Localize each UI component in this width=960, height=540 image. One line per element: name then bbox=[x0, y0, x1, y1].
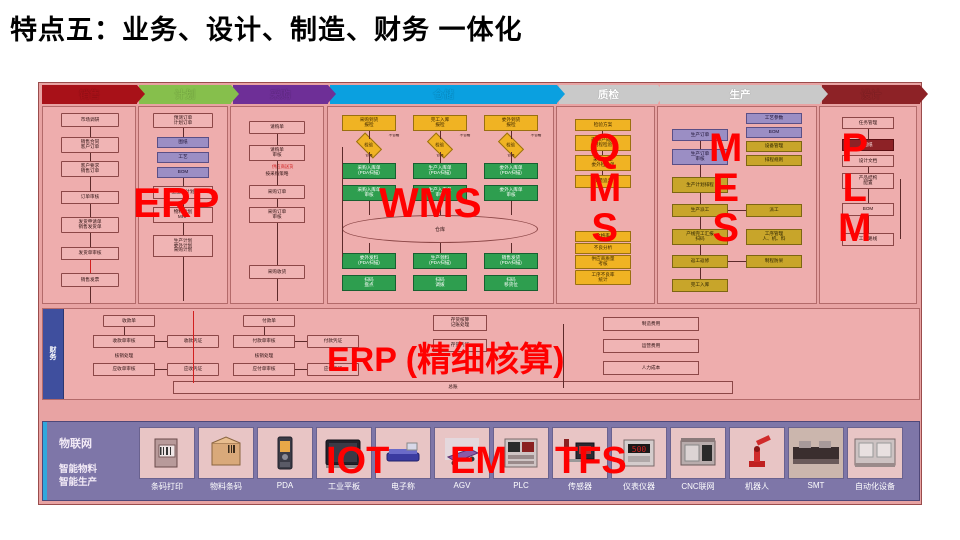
branch-label-no-2: 不合格 bbox=[528, 134, 544, 138]
connector bbox=[90, 287, 91, 303]
column-design: 任务管理 图纸 设计文档 产品结构 配置 BOM 工艺路线 bbox=[819, 106, 917, 304]
finance-side-label: 财 务 bbox=[43, 309, 64, 399]
integration-diagram: 销售 计划 采购 仓储 质检 生产 设计 市场调研 销售合同 客户订单 客户要求… bbox=[38, 82, 922, 505]
connector bbox=[124, 327, 125, 335]
connector bbox=[511, 152, 512, 163]
node-mes-rm-0[interactable]: 派工 bbox=[746, 204, 802, 217]
connector bbox=[90, 127, 91, 137]
node-fin-recv-0[interactable]: 收款单 bbox=[103, 315, 155, 327]
node-mes-2[interactable]: 生产计划排程 bbox=[672, 177, 728, 193]
node-wh-scan-2[interactable]: 扫码 移货位 bbox=[484, 275, 538, 291]
node-purchase-1[interactable]: 请购单 审核 bbox=[249, 145, 305, 161]
iot-item-caption: AGV bbox=[454, 481, 471, 490]
robot-arm-icon bbox=[729, 427, 785, 479]
svg-text:500: 500 bbox=[632, 445, 647, 454]
node-mes-rt-1[interactable]: BOM bbox=[746, 127, 802, 138]
node-plan-2[interactable]: 工艺 bbox=[157, 152, 209, 163]
column-planning: 预测订单 计划订单 图纸 工艺 BOM 主生产计划 物料计划 MRP 生产计划 … bbox=[138, 106, 228, 304]
node-fin-recv-3: 核销处理 bbox=[93, 352, 155, 361]
iot-item-caption: 电子称 bbox=[391, 481, 415, 492]
node-fin-cost-0[interactable]: 制造费用 bbox=[603, 317, 699, 331]
node-mes-0[interactable]: 生产订单 bbox=[672, 129, 728, 141]
iot-item[interactable]: 500 仪表仪器 bbox=[611, 427, 667, 499]
iot-item-caption: 机器人 bbox=[745, 481, 769, 492]
node-sales-2[interactable]: 客户要求 销售订单 bbox=[61, 161, 119, 177]
node-plan-4[interactable]: 主生产计划 bbox=[153, 186, 213, 199]
iot-item-caption: PDA bbox=[277, 481, 293, 490]
connector bbox=[440, 243, 441, 253]
iot-item[interactable]: PDA bbox=[257, 427, 313, 499]
node-qc-6[interactable]: 供应商质量 考核 bbox=[575, 255, 631, 269]
node-mes-6[interactable]: 完工入库 bbox=[672, 279, 728, 292]
connector bbox=[183, 257, 184, 301]
node-qc-0[interactable]: 检验方案 bbox=[575, 119, 631, 131]
connector bbox=[277, 161, 278, 185]
iot-item[interactable]: 工业平板 bbox=[316, 427, 372, 499]
node-wh-audit-2[interactable]: 委外入库单 审核 bbox=[484, 185, 538, 201]
node-qc-4[interactable]: 合格率 bbox=[575, 231, 631, 242]
node-fin-pay-0[interactable]: 付款单 bbox=[243, 315, 295, 327]
node-sales-6[interactable]: 销售发票 bbox=[61, 273, 119, 287]
connector bbox=[155, 341, 167, 342]
iot-item-caption: 条码打印 bbox=[151, 481, 183, 492]
iot-item[interactable]: CNC联网 bbox=[670, 427, 726, 499]
node-wh-scan-1[interactable]: 扫码 调拨 bbox=[413, 275, 467, 291]
node-plan-5[interactable]: 物料计划 MRP bbox=[153, 207, 213, 223]
node-plan-3[interactable]: BOM bbox=[157, 167, 209, 178]
iot-item-caption: CNC联网 bbox=[681, 481, 714, 492]
column-purchase: 请购单 请购单 审核 按采购策略 采购订单 采购订单 审核 采购收货 供应商送货 bbox=[230, 106, 324, 304]
iot-item-caption: 自动化设备 bbox=[855, 481, 895, 492]
node-fin-cost-1[interactable]: 运营费用 bbox=[603, 339, 699, 353]
column-sales: 市场调研 销售合同 客户订单 客户要求 销售订单 订单审核 发货申请单 销售发货… bbox=[42, 106, 136, 304]
connector bbox=[90, 233, 91, 247]
node-mes-rt-0[interactable]: 工艺参数 bbox=[746, 113, 802, 124]
ribbon-segment-planning[interactable]: 计划 bbox=[139, 85, 231, 104]
page-title: 特点五：业务、设计、制造、财务 一体化 bbox=[10, 8, 523, 47]
iot-item[interactable]: 物料条码 bbox=[198, 427, 254, 499]
handheld-pda-icon bbox=[257, 427, 313, 479]
branch-label-no-0: 不合格 bbox=[386, 134, 402, 138]
node-plm-4[interactable]: BOM bbox=[842, 203, 894, 216]
node-plm-5[interactable]: 工艺路线 bbox=[842, 233, 894, 246]
node-sales-1[interactable]: 销售合同 客户订单 bbox=[61, 137, 119, 153]
ribbon-segment-warehouse[interactable]: 仓储 bbox=[330, 85, 557, 104]
iot-item-caption: 物料条码 bbox=[210, 481, 242, 492]
ribbon-segment-production[interactable]: 生产 bbox=[660, 85, 820, 104]
connector bbox=[728, 261, 746, 262]
iot-item-caption: 工业平板 bbox=[328, 481, 360, 492]
node-sales-3[interactable]: 订单审核 bbox=[61, 191, 119, 204]
node-mes-1[interactable]: 生产订单 审核 bbox=[672, 149, 728, 165]
node-mes-rt-2[interactable]: 设备管理 bbox=[746, 141, 802, 152]
node-purchase-4[interactable]: 采购订单 审核 bbox=[249, 207, 305, 223]
node-wh-receipt-2[interactable]: 委外入库单 (PDA扫描) bbox=[484, 163, 538, 179]
iot-item[interactable]: AGV bbox=[434, 427, 490, 499]
node-fin-pay-1[interactable]: 付款单审核 bbox=[233, 335, 295, 348]
connector bbox=[602, 151, 603, 155]
connector bbox=[369, 131, 370, 139]
node-wh-issue-1[interactable]: 生产领料 (PDA扫描) bbox=[413, 253, 467, 269]
node-plm-1[interactable]: 图纸 bbox=[842, 139, 894, 151]
node-sales-0[interactable]: 市场调研 bbox=[61, 113, 119, 127]
connector bbox=[440, 201, 441, 215]
connector bbox=[511, 243, 512, 253]
node-fin-pay-4[interactable]: 应付单审核 bbox=[233, 363, 295, 376]
connector bbox=[183, 223, 184, 235]
connector bbox=[868, 129, 869, 139]
node-mes-rm-1[interactable]: 工序管理 人、机、料 bbox=[746, 229, 802, 245]
connector bbox=[295, 341, 307, 342]
connector bbox=[90, 204, 91, 217]
ribbon-segment-purchase[interactable]: 采购 bbox=[233, 85, 328, 104]
node-plm-0[interactable]: 任务管理 bbox=[842, 117, 894, 129]
node-qc-5[interactable]: 不良分析 bbox=[575, 243, 631, 254]
connector bbox=[440, 152, 441, 163]
connector bbox=[728, 210, 746, 211]
connector bbox=[369, 243, 370, 253]
node-plm-3[interactable]: 产品结构 配置 bbox=[842, 173, 894, 189]
connector bbox=[563, 324, 564, 388]
node-wh-inspect-0[interactable]: 采购到货 报检 bbox=[342, 115, 396, 131]
node-fin-ledger[interactable]: 总账 bbox=[173, 381, 733, 394]
connector bbox=[700, 141, 701, 149]
node-wh-receipt-1[interactable]: 生产入库单 (PDA扫描) bbox=[413, 163, 467, 179]
iot-subtitle: 智能物料 智能生产 bbox=[59, 464, 97, 490]
connector bbox=[155, 369, 167, 370]
connector bbox=[277, 134, 278, 145]
cnc-machine-icon bbox=[670, 427, 726, 479]
connector bbox=[700, 268, 701, 279]
iot-item[interactable]: 机器人 bbox=[729, 427, 785, 499]
column-warehouse: 采购到货 报检 完工入库 报检 委外到货 报检 检验 检验 检验 不合格 不合格… bbox=[327, 106, 554, 304]
purchase-side-note: 供应商送货 bbox=[271, 163, 323, 171]
node-wh-inspect-1[interactable]: 完工入库 报检 bbox=[413, 115, 467, 131]
node-sales-4[interactable]: 发货申请单 销售发货单 bbox=[61, 217, 119, 233]
iot-accent-bar bbox=[43, 422, 47, 500]
connector bbox=[868, 189, 869, 203]
connector bbox=[511, 131, 512, 139]
iot-item[interactable]: 条码打印 bbox=[139, 427, 195, 499]
iot-item[interactable]: 电子称 bbox=[375, 427, 431, 499]
node-mes-rm-2[interactable]: 制程防呆 bbox=[746, 255, 802, 268]
node-qc-7[interactable]: 工序不良率 统计 bbox=[575, 270, 631, 285]
node-plm-2[interactable]: 设计文档 bbox=[842, 155, 894, 167]
node-fin-cost-2[interactable]: 人力成本 bbox=[603, 361, 699, 375]
connector bbox=[295, 369, 307, 370]
carton-box-icon bbox=[198, 427, 254, 479]
node-wh-issue-2[interactable]: 销售发货 (PDA扫描) bbox=[484, 253, 538, 269]
connector bbox=[868, 216, 869, 233]
connector bbox=[700, 245, 701, 255]
connector bbox=[868, 167, 869, 173]
connector bbox=[277, 199, 278, 207]
node-fin-pay-3: 核销处理 bbox=[233, 352, 295, 361]
iot-item-caption: 传感器 bbox=[568, 481, 592, 492]
node-wh-receipt-0[interactable]: 采购入库单 (PDA扫描) bbox=[342, 163, 396, 179]
node-fin-pay-5[interactable]: 应付凭证 bbox=[307, 363, 359, 376]
branch-label-no-1: 不合格 bbox=[457, 134, 473, 138]
warehouse-store-cylinder[interactable]: 仓库 bbox=[342, 215, 538, 243]
node-wh-scan-0[interactable]: 扫码 盘点 bbox=[342, 275, 396, 291]
iot-title: 物联网 bbox=[59, 435, 92, 451]
connector bbox=[183, 199, 184, 207]
ribbon-segment-sales[interactable]: 销售 bbox=[42, 85, 137, 104]
connector bbox=[900, 179, 901, 239]
process-ribbon: 销售 计划 采购 仓储 质检 生产 设计 bbox=[42, 85, 920, 104]
connector bbox=[90, 260, 91, 273]
node-sales-5[interactable]: 发货单审核 bbox=[61, 247, 119, 260]
connector bbox=[264, 327, 265, 335]
connector bbox=[440, 131, 441, 139]
ribbon-segment-qc[interactable]: 质检 bbox=[559, 85, 658, 104]
node-mes-3[interactable]: 生产派工 bbox=[672, 204, 728, 217]
node-fin-inv-1[interactable]: 存货凭证 bbox=[433, 339, 487, 352]
column-production: 工艺参数 BOM 设备管理 排程规则 生产订单 生产订单 审核 生产计划排程 生… bbox=[657, 106, 817, 304]
node-fin-recv-1[interactable]: 收款单审核 bbox=[93, 335, 155, 348]
node-purchase-5[interactable]: 采购收货 bbox=[249, 265, 305, 279]
connector bbox=[602, 131, 603, 135]
automation-equipment-icon bbox=[847, 427, 903, 479]
instrument-meter-icon: 500 bbox=[611, 427, 667, 479]
iot-item[interactable]: 传感器 bbox=[552, 427, 608, 499]
node-fin-inv-0[interactable]: 存货核算 记账处理 bbox=[433, 315, 487, 331]
connector bbox=[277, 223, 278, 265]
node-fin-recv-4[interactable]: 应收单审核 bbox=[93, 363, 155, 376]
connector bbox=[602, 171, 603, 175]
connector bbox=[342, 147, 343, 257]
connector bbox=[193, 311, 194, 383]
node-qc-3[interactable]: 质量追溯 bbox=[575, 175, 631, 188]
connector bbox=[700, 165, 701, 177]
node-qc-1[interactable]: 来料/产成品 制程检验 bbox=[575, 135, 631, 151]
iot-item[interactable]: 自动化设备 bbox=[847, 427, 903, 499]
connector bbox=[183, 128, 184, 137]
connector bbox=[511, 201, 512, 215]
iot-band: 物联网 智能物料 智能生产 条码打印 物料条码 PDA bbox=[42, 421, 920, 501]
node-plan-6[interactable]: 生产计划 委外计划 采购计划 bbox=[153, 235, 213, 257]
plc-cabinet-icon bbox=[493, 427, 549, 479]
barcode-printer-icon bbox=[139, 427, 195, 479]
node-purchase-0[interactable]: 请购单 bbox=[249, 121, 305, 134]
connector bbox=[700, 193, 701, 204]
node-fin-pay-2[interactable]: 付款凭证 bbox=[307, 335, 359, 348]
connector bbox=[183, 178, 184, 186]
industrial-tablet-icon bbox=[316, 427, 372, 479]
sensor-icon bbox=[552, 427, 608, 479]
connector bbox=[369, 201, 370, 215]
node-plan-0[interactable]: 预测订单 计划订单 bbox=[153, 113, 213, 128]
iot-item-caption: PLC bbox=[513, 481, 529, 490]
node-wh-audit-0[interactable]: 采购入库单 审核 bbox=[342, 185, 396, 201]
node-wh-audit-1[interactable]: 生产入库单 审核 bbox=[413, 185, 467, 201]
iot-item-caption: 仪表仪器 bbox=[623, 481, 655, 492]
connector bbox=[90, 177, 91, 191]
smt-line-icon bbox=[788, 427, 844, 479]
ribbon-segment-design[interactable]: 设计 bbox=[822, 85, 920, 104]
node-plan-1[interactable]: 图纸 bbox=[157, 137, 209, 148]
connector bbox=[90, 153, 91, 161]
node-mes-rt-3[interactable]: 排程规则 bbox=[746, 155, 802, 166]
node-mes-4[interactable]: 产线完工汇报 扫码 bbox=[672, 229, 728, 245]
connector bbox=[700, 217, 701, 229]
connector bbox=[369, 152, 370, 163]
node-mes-5[interactable]: 返工返修 bbox=[672, 255, 728, 268]
iot-item[interactable]: SMT bbox=[788, 427, 844, 499]
node-qc-2[interactable]: 采购/完工 委外检验单 bbox=[575, 155, 631, 171]
node-wh-issue-0[interactable]: 委外发料 (PDA扫描) bbox=[342, 253, 396, 269]
iot-item-caption: SMT bbox=[808, 481, 825, 490]
column-qc: 检验方案 来料/产成品 制程检验 采购/完工 委外检验单 质量追溯 合格率 不良… bbox=[556, 106, 655, 304]
electronic-scale-icon bbox=[375, 427, 431, 479]
iot-item-list: 条码打印 物料条码 PDA 工业平板 bbox=[139, 427, 903, 499]
agv-cart-icon bbox=[434, 427, 490, 479]
node-wh-inspect-2[interactable]: 委外到货 报检 bbox=[484, 115, 538, 131]
node-purchase-3[interactable]: 采购订单 bbox=[249, 185, 305, 199]
iot-item[interactable]: PLC bbox=[493, 427, 549, 499]
connector bbox=[277, 279, 278, 301]
finance-band: 财 务 收款单 收款单审核 收款凭证 核销处理 应收单审核 应收凭证 付款单 付… bbox=[42, 308, 920, 400]
